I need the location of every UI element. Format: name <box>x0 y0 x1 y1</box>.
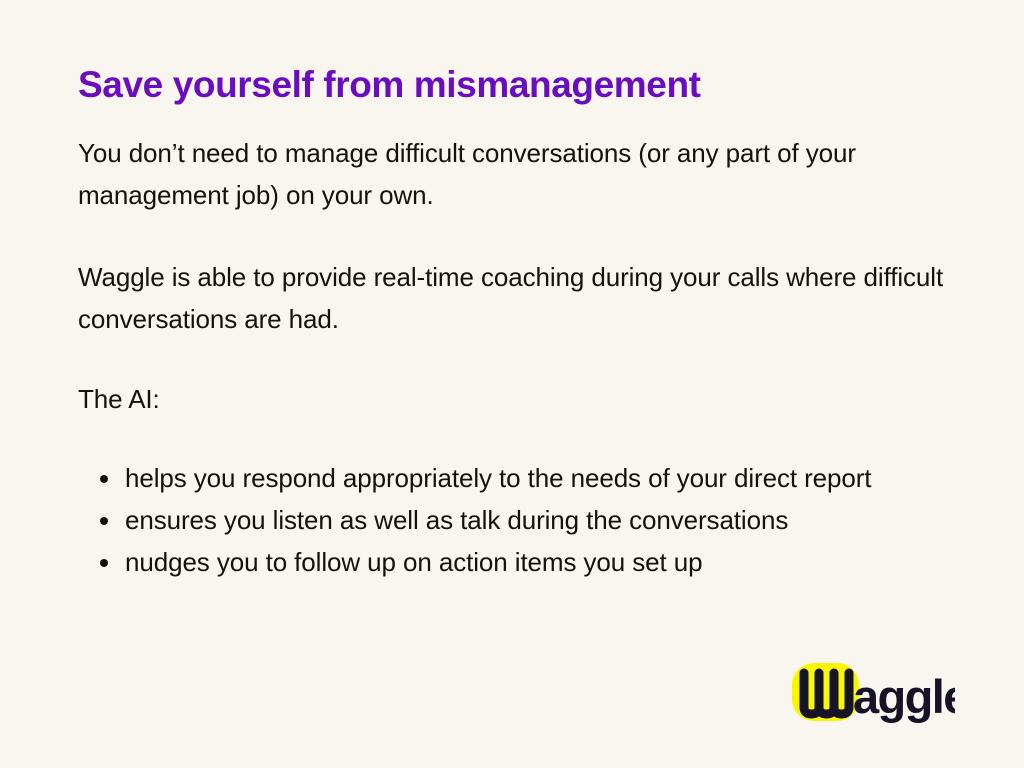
bullet-dot-icon <box>100 475 108 483</box>
list-item: nudges you to follow up on action items … <box>78 542 935 583</box>
paragraph-block-1: You don’t need to manage difficult conve… <box>78 132 958 216</box>
bullet-dot-icon <box>100 517 108 525</box>
slide-content: Save yourself from mismanagement You don… <box>78 62 958 584</box>
slide: Save yourself from mismanagement You don… <box>0 0 1024 768</box>
page-title: Save yourself from mismanagement <box>78 62 958 108</box>
paragraph-block-2: Waggle is able to provide real-time coac… <box>78 256 958 340</box>
list-lead-in: The AI: <box>78 378 958 420</box>
bullet-dot-icon <box>100 559 108 567</box>
intro-paragraph: You don’t need to manage difficult conve… <box>78 132 958 216</box>
list-item-label: nudges you to follow up on action items … <box>125 547 702 577</box>
list-item-label: helps you respond appropriately to the n… <box>125 463 871 493</box>
list-item: helps you respond appropriately to the n… <box>78 458 935 499</box>
logo-wordmark-text: aggle <box>853 670 955 723</box>
list-item-label: ensures you listen as well as talk durin… <box>125 505 788 535</box>
list-item: ensures you listen as well as talk durin… <box>78 500 935 541</box>
paragraph-block-3: The AI: <box>78 378 958 420</box>
ai-capabilities-list: helps you respond appropriately to the n… <box>78 458 958 583</box>
product-paragraph: Waggle is able to provide real-time coac… <box>78 256 958 340</box>
waggle-logo: aggle <box>790 655 955 727</box>
